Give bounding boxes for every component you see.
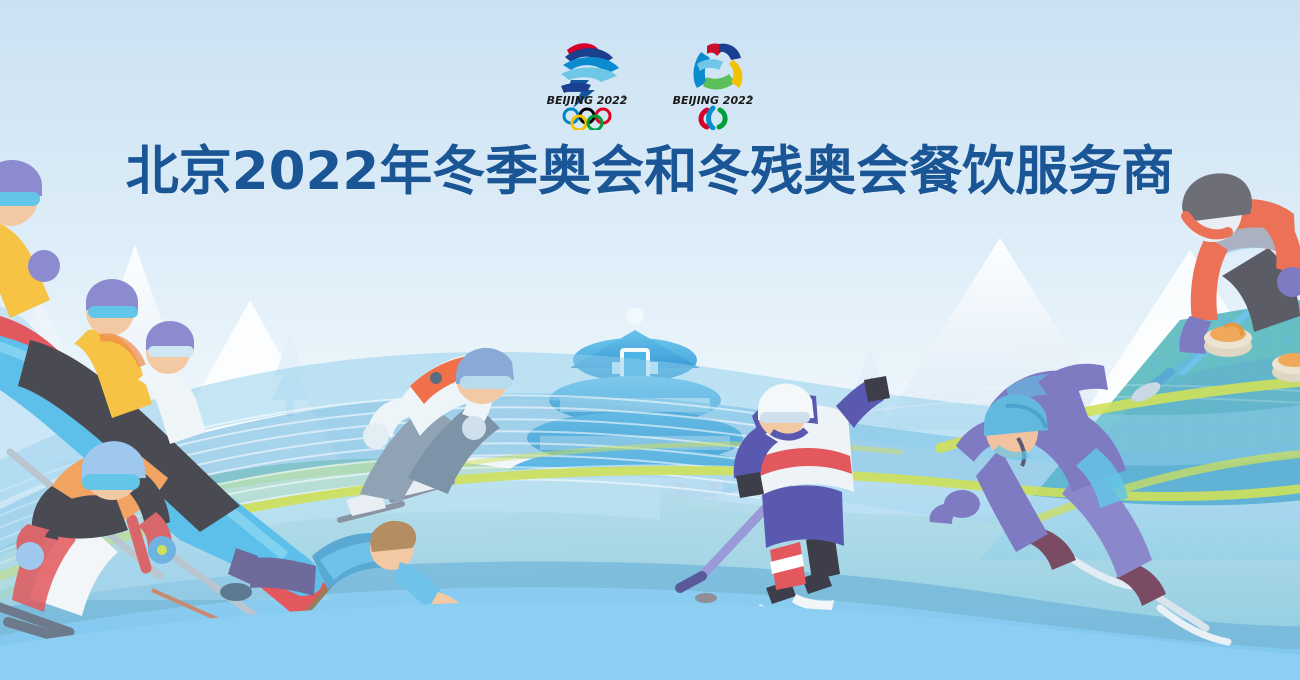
paralympic-ribbon-icon: [694, 44, 743, 90]
emblem-row: BEIJING 2022 ®: [0, 30, 1300, 130]
beijing-2022-paralympic-emblem: BEIJING 2022 ®: [663, 30, 763, 130]
paralympic-trademark: ®: [748, 94, 752, 101]
olympic-wordmark: BEIJING 2022: [547, 94, 628, 107]
olympic-rings-icon: [564, 109, 610, 130]
agitos-icon: [701, 108, 725, 128]
paralympic-wordmark: BEIJING 2022: [673, 94, 754, 107]
beijing-2022-olympic-emblem: BEIJING 2022 ®: [537, 30, 637, 130]
page-title: 北京2022年冬季奥会和冬残奥会餐饮服务商: [0, 144, 1300, 200]
beijing-2022-catering-banner: BEIJING 2022 ®: [0, 0, 1300, 680]
olympic-trademark: ®: [622, 94, 626, 101]
